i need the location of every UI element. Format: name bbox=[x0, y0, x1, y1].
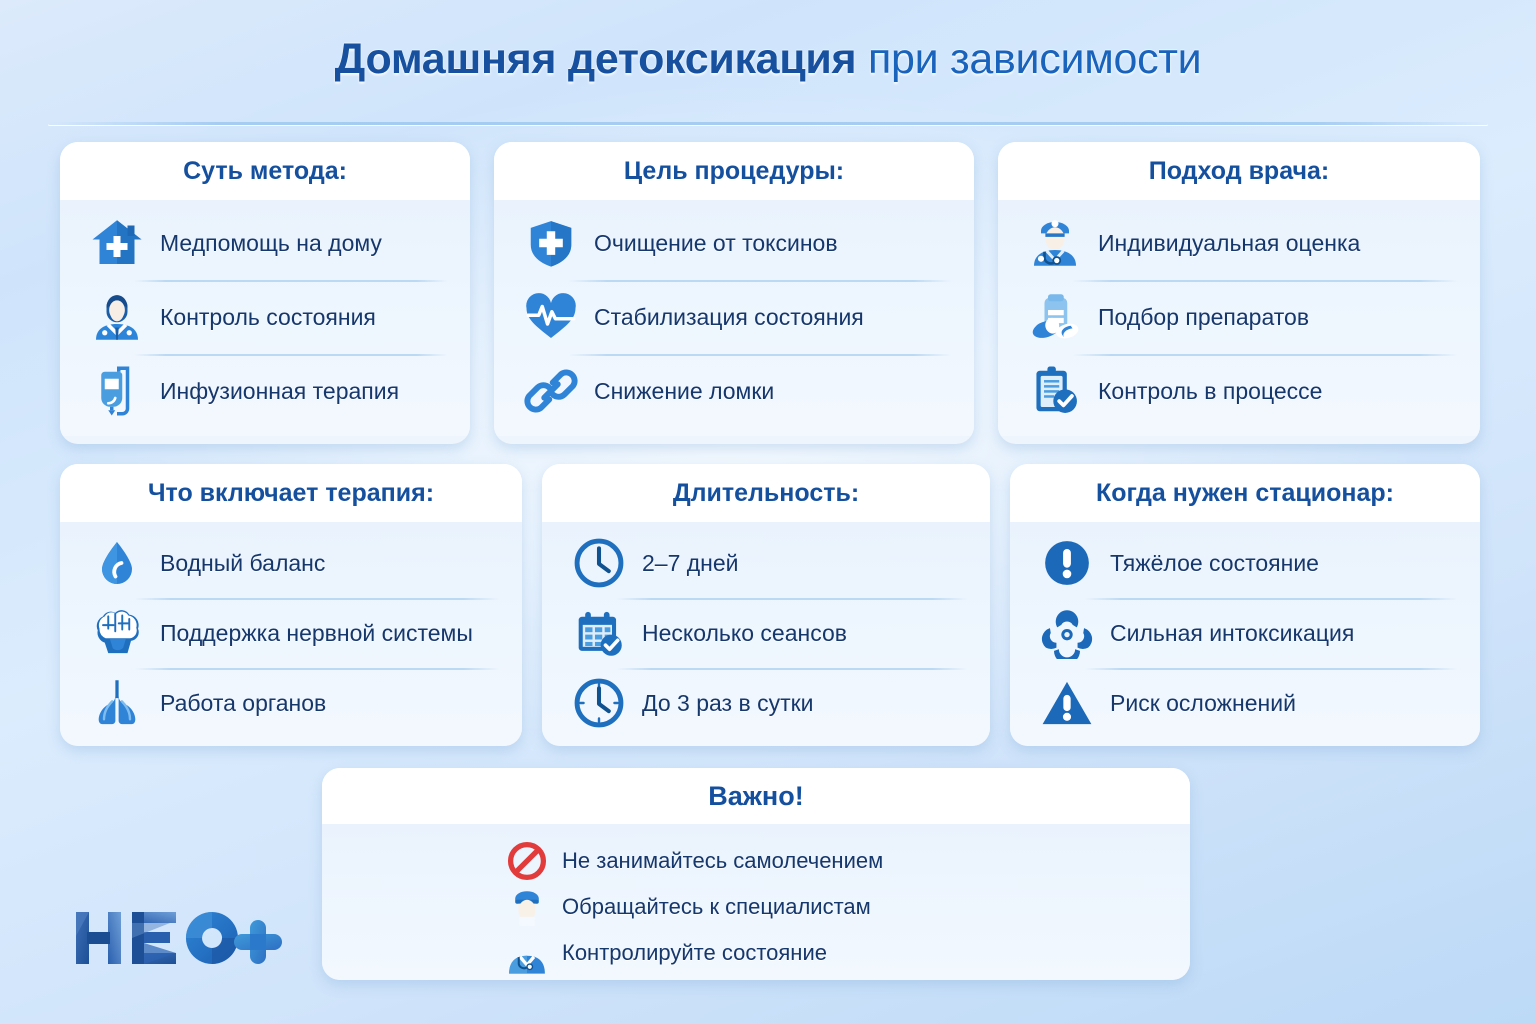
warning-triangle-icon bbox=[1036, 672, 1098, 734]
list-item: Риск осложнений bbox=[1010, 668, 1480, 738]
list-item-label: Риск осложнений bbox=[1110, 690, 1296, 717]
water-drop-icon bbox=[86, 532, 148, 594]
list-item-label: Обращайтесь к специалистам bbox=[562, 894, 871, 920]
doctor-person-icon bbox=[86, 286, 148, 348]
chain-link-icon bbox=[520, 360, 582, 422]
page-title-strong: Домашняя детоксикация bbox=[335, 35, 857, 83]
card-header: Что включает терапия: bbox=[60, 464, 522, 522]
home-medical-icon bbox=[86, 212, 148, 274]
brain-icon bbox=[86, 602, 148, 664]
list-item-label: До 3 раз в сутки bbox=[642, 690, 814, 717]
lungs-icon bbox=[86, 672, 148, 734]
heart-pulse-icon bbox=[520, 286, 582, 348]
card-header: Цель процедуры: bbox=[494, 142, 974, 200]
prohibition-icon bbox=[500, 840, 554, 882]
clock-icon bbox=[568, 672, 630, 734]
list-item: Инфузионная терапия bbox=[60, 354, 470, 428]
list-item-label: Снижение ломки bbox=[594, 378, 774, 405]
card-title: Длительность: bbox=[673, 479, 859, 508]
list-item: Снижение ломки bbox=[494, 354, 974, 428]
card-header: Суть метода: bbox=[60, 142, 470, 200]
list-item: Поддержка нервной системы bbox=[60, 598, 522, 668]
logo-letter-o bbox=[186, 912, 238, 964]
list-item: Медпомощь на дому bbox=[60, 206, 470, 280]
list-item-label: Медпомощь на дому bbox=[160, 230, 382, 257]
calendar-check-icon bbox=[568, 602, 630, 664]
card-body: Водный баланс Поддержка нервной системы bbox=[60, 522, 522, 746]
card-sut-metoda: Суть метода: Медпомощь на дому bbox=[60, 142, 470, 444]
doctor-stethoscope-icon bbox=[1024, 212, 1086, 274]
list-item: Очищение от токсинов bbox=[494, 206, 974, 280]
clock-icon bbox=[568, 532, 630, 594]
card-body: Очищение от токсинов Стабилизация состоя… bbox=[494, 200, 974, 436]
brand-logo bbox=[72, 902, 282, 974]
card-header: Важно! bbox=[322, 768, 1190, 824]
list-item: Несколько сеансов bbox=[542, 598, 990, 668]
list-item-label: Инфузионная терапия bbox=[160, 378, 399, 405]
list-item-label: Работа органов bbox=[160, 690, 326, 717]
card-header: Подход врача: bbox=[998, 142, 1480, 200]
card-body: Индивидуальная оценка Подбор препаратов bbox=[998, 200, 1480, 436]
list-item-label: Тяжёлое состояние bbox=[1110, 550, 1319, 577]
list-item-label: Контролируйте состояние bbox=[562, 940, 827, 966]
list-item: Не занимайтесь самолечением bbox=[500, 838, 883, 884]
list-item-label: Индивидуальная оценка bbox=[1098, 230, 1360, 257]
card-title: Суть метода: bbox=[183, 157, 347, 186]
card-title: Важно! bbox=[708, 781, 803, 812]
card-kogda-nuzhen-stacionar: Когда нужен стационар: Тяжёлое состояние bbox=[1010, 464, 1480, 746]
card-podhod-vracha: Подход врача: Индивидуальная оценка bbox=[998, 142, 1480, 444]
doctor-body-icon bbox=[500, 931, 554, 975]
clipboard-check-icon bbox=[1024, 360, 1086, 422]
page-title-light: при зависимости bbox=[868, 35, 1201, 83]
doctor-head-icon bbox=[500, 885, 554, 929]
list-item: До 3 раз в сутки bbox=[542, 668, 990, 738]
list-item-label: Несколько сеансов bbox=[642, 620, 847, 647]
card-body: Медпомощь на дому Контроль состояния bbox=[60, 200, 470, 436]
list-item: 2–7 дней bbox=[542, 528, 990, 598]
list-item: Индивидуальная оценка bbox=[998, 206, 1480, 280]
page-title: Домашняя детоксикация при зависимости bbox=[0, 36, 1536, 83]
list-item-label: Не занимайтесь самолечением bbox=[562, 848, 883, 874]
iv-drip-icon bbox=[86, 360, 148, 422]
card-cel-procedury: Цель процедуры: Очищение от токсинов Ста… bbox=[494, 142, 974, 444]
card-header: Когда нужен стационар: bbox=[1010, 464, 1480, 522]
card-body: Не занимайтесь самолечением Обращайтесь … bbox=[322, 824, 1190, 980]
card-body: Тяжёлое состояние Сильная интоксикация bbox=[1010, 522, 1480, 746]
logo-letter-n bbox=[76, 912, 121, 964]
list-item-label: Контроль в процессе bbox=[1098, 378, 1322, 405]
biohazard-icon bbox=[1036, 602, 1098, 664]
list-item: Обращайтесь к специалистам bbox=[500, 884, 871, 930]
list-item: Контроль состояния bbox=[60, 280, 470, 354]
exclamation-circle-icon bbox=[1036, 532, 1098, 594]
list-item: Работа органов bbox=[60, 668, 522, 738]
list-item: Стабилизация состояния bbox=[494, 280, 974, 354]
title-divider bbox=[48, 122, 1488, 125]
card-title: Что включает терапия: bbox=[148, 479, 434, 508]
card-chto-vklyuchaet-terapiya: Что включает терапия: Водный баланс bbox=[60, 464, 522, 746]
card-header: Длительность: bbox=[542, 464, 990, 522]
list-item-label: Сильная интоксикация bbox=[1110, 620, 1354, 647]
shield-cross-icon bbox=[520, 212, 582, 274]
list-item: Водный баланс bbox=[60, 528, 522, 598]
card-dlitelnost: Длительность: 2–7 дней bbox=[542, 464, 990, 746]
card-body: 2–7 дней Несколько сеансо bbox=[542, 522, 990, 746]
list-item: Подбор препаратов bbox=[998, 280, 1480, 354]
list-item-label: Очищение от токсинов bbox=[594, 230, 838, 257]
list-item-label: Стабилизация состояния bbox=[594, 304, 864, 331]
card-title: Подход врача: bbox=[1149, 157, 1329, 186]
list-item-label: Подбор препаратов bbox=[1098, 304, 1309, 331]
logo-plus bbox=[234, 920, 282, 964]
list-item-label: Контроль состояния bbox=[160, 304, 376, 331]
list-item-label: Водный баланс bbox=[160, 550, 325, 577]
card-title: Когда нужен стационар: bbox=[1096, 479, 1394, 508]
card-vazhno: Важно! Не занимайтесь самолечением bbox=[322, 768, 1190, 980]
logo-letter-e bbox=[132, 912, 176, 964]
card-title: Цель процедуры: bbox=[624, 157, 844, 186]
list-item-label: Поддержка нервной системы bbox=[160, 620, 473, 647]
list-item: Контроль в процессе bbox=[998, 354, 1480, 428]
list-item: Тяжёлое состояние bbox=[1010, 528, 1480, 598]
pills-bottle-icon bbox=[1024, 286, 1086, 348]
list-item: Сильная интоксикация bbox=[1010, 598, 1480, 668]
list-item-label: 2–7 дней bbox=[642, 550, 739, 577]
list-item: Контролируйте состояние bbox=[500, 930, 827, 976]
